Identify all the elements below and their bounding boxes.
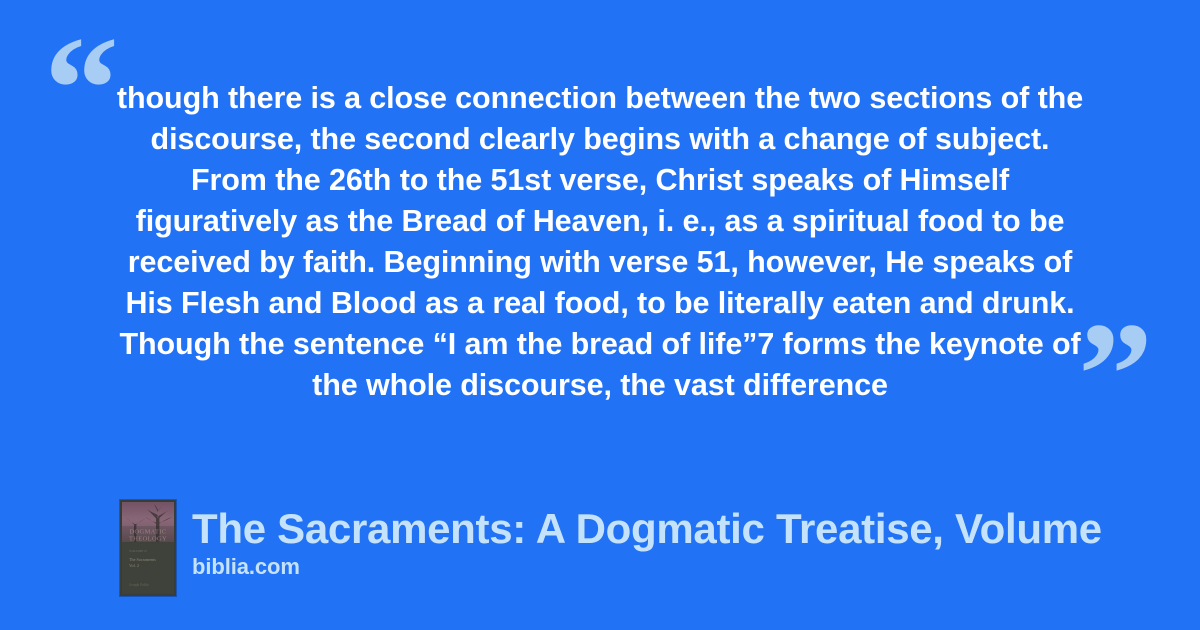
quote-region: “ though there is a close connection bet… xyxy=(0,0,1200,430)
book-cover-thumbnail[interactable]: DOGMATIC THEOLOGY VOLUME II The Sacramen… xyxy=(120,500,176,596)
source-attribution[interactable]: DOGMATIC THEOLOGY VOLUME II The Sacramen… xyxy=(120,500,1102,596)
source-text-group: The Sacraments: A Dogmatic Treatise, Vol… xyxy=(192,500,1102,580)
quote-card: “ though there is a close connection bet… xyxy=(0,0,1200,630)
book-title: The Sacraments: A Dogmatic Treatise, Vol… xyxy=(192,506,1102,552)
opening-quote-icon: “ xyxy=(44,14,117,164)
closing-quote-icon: ” xyxy=(1078,300,1151,450)
quote-text: though there is a close connection betwe… xyxy=(110,78,1090,406)
source-site-label[interactable]: biblia.com xyxy=(192,554,1102,580)
